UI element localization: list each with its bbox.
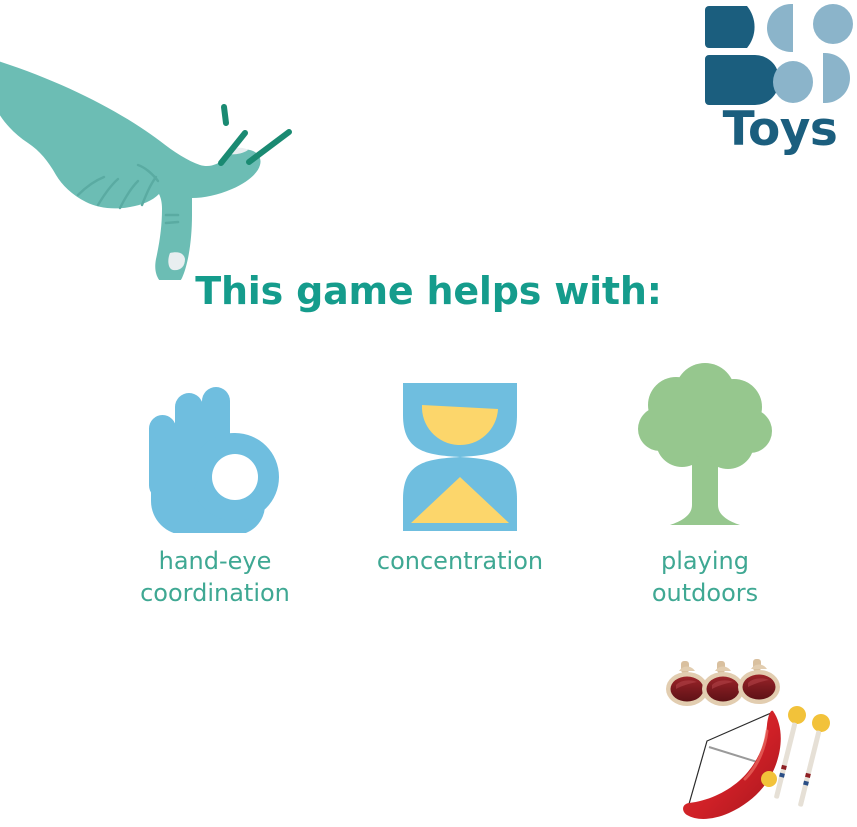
hourglass-icon xyxy=(399,381,521,533)
benefit-label: playing outdoors xyxy=(652,545,758,610)
page-title: This game helps with: xyxy=(0,271,857,313)
tree-icon-wrapper xyxy=(638,358,772,533)
bow-and-arrow-apple-target-set xyxy=(655,655,855,827)
benefit-label: concentration xyxy=(377,545,543,577)
brand-logo: Toys xyxy=(705,2,855,167)
apple-target-group xyxy=(666,659,780,706)
ok-hand-icon xyxy=(139,373,291,533)
hourglass-icon-wrapper xyxy=(399,358,521,533)
brand-wordmark: Toys xyxy=(705,106,855,153)
benefit-item-playing-outdoors: playing outdoors xyxy=(600,358,810,610)
benefit-item-concentration: concentration xyxy=(355,358,565,577)
benefits-list: hand-eye coordination concentration xyxy=(110,358,810,610)
tree-icon xyxy=(638,355,772,533)
bs-toys-logo-mark xyxy=(705,2,855,107)
benefit-label: hand-eye coordination xyxy=(140,545,290,610)
spark-lines-icon xyxy=(215,100,310,172)
benefit-item-hand-eye-coordination: hand-eye coordination xyxy=(110,358,320,610)
promo-image-canvas: Toys This game helps with: xyxy=(0,0,857,827)
ok-hand-icon-wrapper xyxy=(139,358,291,533)
